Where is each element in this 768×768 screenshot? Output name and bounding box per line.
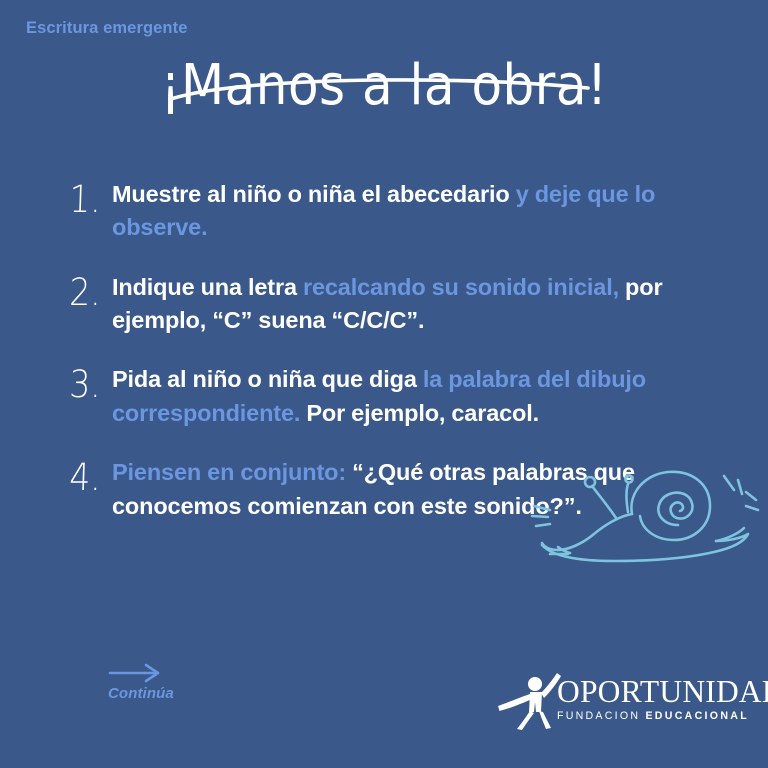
text-segment: Indique una letra: [112, 274, 303, 300]
continue-marker[interactable]: Continúa: [108, 662, 238, 702]
list-item-text: Muestre al niño o niña el abecedario y d…: [112, 178, 692, 245]
continue-label: Continúa: [108, 685, 238, 702]
slide-canvas: Escritura emergente ¡Manos a la obra! 1.…: [0, 0, 768, 768]
list-item-number: 4.: [69, 458, 114, 496]
list-item-text: Indique una letra recalcando su sonido i…: [112, 271, 692, 338]
list-item-text: Pida al niño o niña que diga la palabra …: [112, 363, 692, 430]
logo-subtitle-bold: EDUCACIONAL: [645, 710, 749, 722]
list-item-number: 1.: [69, 180, 114, 218]
list-item: 1. Muestre al niño o niña el abecedario …: [0, 178, 768, 245]
list-item: 4. Piensen en conjunto: “¿Qué otras pala…: [0, 456, 768, 523]
title-block: ¡Manos a la obra!: [0, 57, 768, 107]
text-segment: Pida al niño o niña que diga: [112, 366, 423, 392]
instruction-list: 1. Muestre al niño o niña el abecedario …: [0, 178, 768, 523]
page-title: ¡Manos a la obra!: [0, 57, 768, 113]
list-item-number: 3.: [69, 365, 114, 403]
text-segment-highlight: recalcando su sonido inicial,: [303, 274, 619, 300]
list-item-text: Piensen en conjunto: “¿Qué otras palabra…: [112, 456, 692, 523]
list-item-number: 2.: [69, 273, 114, 311]
list-item: 3. Pida al niño o niña que diga la palab…: [0, 363, 768, 430]
logo-wordmark: OPORTUNIDAD FUNDACION EDUCACIONAL: [557, 676, 761, 721]
logo-subtitle: FUNDACION EDUCACIONAL: [557, 711, 761, 722]
logo-name: OPORTUNIDAD: [557, 676, 761, 708]
text-segment: Por ejemplo, caracol.: [300, 400, 539, 426]
category-label: Escritura emergente: [26, 19, 187, 38]
text-segment: Muestre al niño o niña el abecedario: [112, 181, 516, 207]
logo-subtitle-light: FUNDACION: [557, 710, 640, 722]
text-segment-highlight: Piensen en conjunto:: [112, 459, 346, 485]
list-item: 2. Indique una letra recalcando su sonid…: [0, 271, 768, 338]
organization-logo: OPORTUNIDAD FUNDACION EDUCACIONAL: [497, 672, 759, 730]
arrow-right-icon: [108, 662, 164, 684]
